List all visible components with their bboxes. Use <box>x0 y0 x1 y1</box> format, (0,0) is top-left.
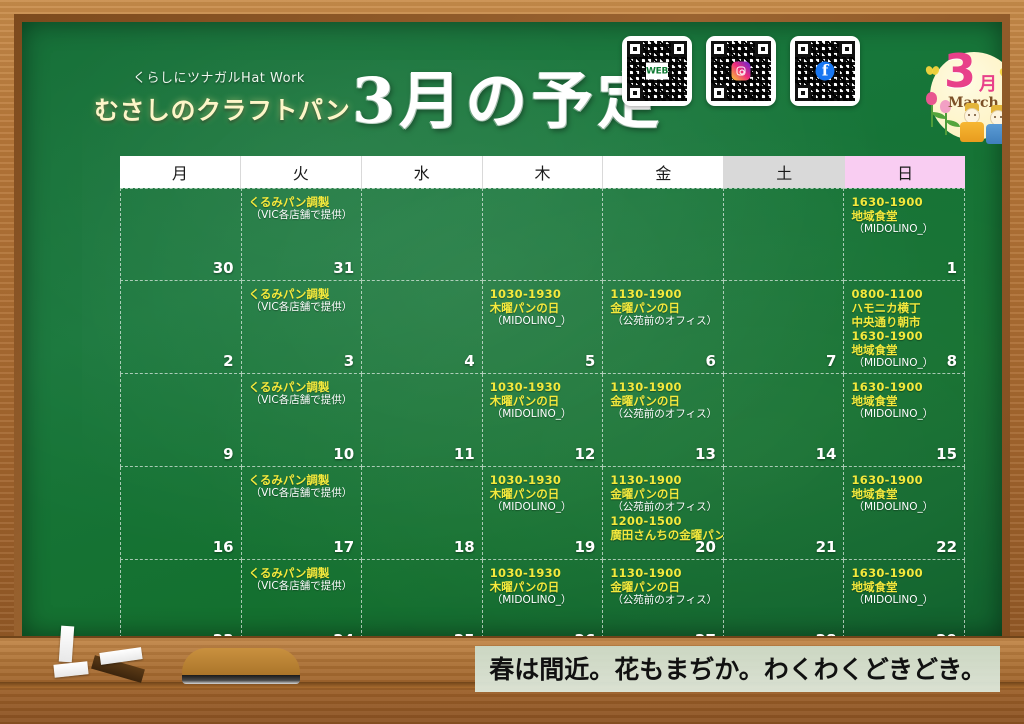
event-location-note: （公苑前のオフィス） <box>610 594 717 607</box>
day-number: 21 <box>816 538 837 556</box>
day-number: 10 <box>333 445 354 463</box>
day-number: 20 <box>695 538 716 556</box>
weekday-header-row: 月火水木金土日 <box>120 156 965 188</box>
event-title: 金曜パンの日 <box>610 580 717 594</box>
event-time: 1130-1900 <box>610 566 717 580</box>
event-title: くるみパン調製 <box>249 195 356 209</box>
day-number: 22 <box>936 538 957 556</box>
event-title: 金曜パンの日 <box>610 487 717 501</box>
calendar-day-cell[interactable] <box>724 188 845 281</box>
brand-block: くらしにツナガルHat Work むさしのクラフトパン <box>94 67 344 127</box>
calendar-day-cell[interactable]: 18 <box>362 467 483 560</box>
qr-finder-icon <box>627 85 643 101</box>
day-number: 13 <box>695 445 716 463</box>
weekday-header-weekday-0: 月 <box>120 156 241 188</box>
calendar-day-cell[interactable]: 1030-1930木曜パンの日（MIDOLINO_）12 <box>483 374 604 467</box>
calendar-day-cell[interactable]: 1130-1900金曜パンの日（公苑前のオフィス）13 <box>603 374 724 467</box>
qr-pattern: f <box>795 41 855 101</box>
calendar-week-row: 30くるみパン調製（VIC各店舗で提供）311630-1900地域食堂（MIDO… <box>120 188 965 281</box>
event-location-note: （公苑前のオフィス） <box>610 501 717 514</box>
event-location-note: （MIDOLINO_） <box>490 315 597 328</box>
calendar-event: 0800-1100ハモニカ横丁中央通り朝市 <box>851 287 958 329</box>
qr-finder-icon <box>671 41 687 57</box>
event-title: 地域食堂 <box>851 580 958 594</box>
calendar-day-cell[interactable]: 1130-1900金曜パンの日（公苑前のオフィス）1200-1500廣田さんちの… <box>603 467 724 560</box>
calendar-day-cell[interactable]: 25 <box>362 560 483 636</box>
event-location-note: （VIC各店舗で提供） <box>249 487 356 500</box>
event-location-note: （VIC各店舗で提供） <box>249 301 356 314</box>
event-title: 地域食堂 <box>851 209 958 223</box>
qr-finder-icon <box>839 41 855 57</box>
event-location-note: （MIDOLINO_） <box>851 408 958 421</box>
calendar-day-cell[interactable]: 28 <box>724 560 845 636</box>
facebook-qr-code[interactable]: f <box>790 36 860 106</box>
event-location-note: （MIDOLINO_） <box>490 501 597 514</box>
qr-pattern <box>711 41 771 101</box>
calendar-day-cell[interactable] <box>483 188 604 281</box>
weekday-header-weekday-3: 木 <box>483 156 604 188</box>
chalkboard-surface: くらしにツナガルHat Work むさしのクラフトパン 3月の予定 WEB <box>22 22 1002 636</box>
day-number: 4 <box>464 352 474 370</box>
calendar-week-row: 9くるみパン調製（VIC各店舗で提供）10111030-1930木曜パンの日（M… <box>120 374 965 467</box>
event-location-note: （MIDOLINO_） <box>490 594 597 607</box>
calendar-day-cell[interactable]: くるみパン調製（VIC各店舗で提供）31 <box>242 188 363 281</box>
event-time: 0800-1100 <box>851 287 958 301</box>
event-time: 1630-1900 <box>851 473 958 487</box>
calendar-day-cell[interactable]: 16 <box>120 467 242 560</box>
calendar-day-cell[interactable]: くるみパン調製（VIC各店舗で提供）10 <box>242 374 363 467</box>
brand-name: むさしのクラフトパン <box>94 91 344 127</box>
calendar-event: 1030-1930木曜パンの日（MIDOLINO_） <box>490 473 597 514</box>
calendar-event: くるみパン調製（VIC各店舗で提供） <box>249 566 356 593</box>
butterfly-icon <box>1000 68 1002 78</box>
event-location-note: （MIDOLINO_） <box>851 357 958 370</box>
event-title: 地域食堂 <box>851 394 958 408</box>
calendar-event: くるみパン調製（VIC各店舗で提供） <box>249 195 356 222</box>
day-number: 1 <box>947 259 957 277</box>
calendar-day-cell[interactable]: 1630-1900地域食堂（MIDOLINO_）15 <box>844 374 965 467</box>
butterfly-icon <box>926 66 940 76</box>
instagram-qr-code[interactable] <box>706 36 776 106</box>
calendar-week-row: 16くるみパン調製（VIC各店舗で提供）17181030-1930木曜パンの日（… <box>120 467 965 560</box>
badge-month-unit: 月 <box>979 70 997 96</box>
calendar-event: 1130-1900金曜パンの日（公苑前のオフィス） <box>610 380 717 421</box>
header: くらしにツナガルHat Work むさしのクラフトパン 3月の予定 WEB <box>22 22 1002 132</box>
calendar-day-cell[interactable]: くるみパン調製（VIC各店舗で提供）24 <box>242 560 363 636</box>
calendar-event: 1130-1900金曜パンの日（公苑前のオフィス） <box>610 473 717 514</box>
event-time: 1030-1930 <box>490 287 597 301</box>
calendar-day-cell[interactable]: 7 <box>724 281 845 374</box>
day-number: 31 <box>333 259 354 277</box>
day-number: 7 <box>826 352 836 370</box>
day-number: 30 <box>213 259 234 277</box>
calendar-day-cell[interactable]: 11 <box>362 374 483 467</box>
weekday-header-weekday-1: 火 <box>241 156 362 188</box>
calendar-event: くるみパン調製（VIC各店舗で提供） <box>249 380 356 407</box>
calendar-event: 1030-1930木曜パンの日（MIDOLINO_） <box>490 566 597 607</box>
weekday-header-saturday-5: 土 <box>724 156 845 188</box>
calendar-day-cell[interactable]: 1130-1900金曜パンの日（公苑前のオフィス）27 <box>603 560 724 636</box>
calendar-day-cell[interactable]: 21 <box>724 467 845 560</box>
calendar-day-cell[interactable] <box>603 188 724 281</box>
calendar-event: 1130-1900金曜パンの日（公苑前のオフィス） <box>610 566 717 607</box>
tagline: くらしにツナガルHat Work <box>94 67 344 86</box>
event-time: 1030-1930 <box>490 380 597 394</box>
event-title: 木曜パンの日 <box>490 487 597 501</box>
day-number: 19 <box>574 538 595 556</box>
calendar-event: 1130-1900金曜パンの日（公苑前のオフィス） <box>610 287 717 328</box>
qr-finder-icon <box>711 41 727 57</box>
event-time: 1630-1900 <box>851 329 958 343</box>
instagram-icon <box>732 62 751 81</box>
calendar-day-cell[interactable] <box>362 188 483 281</box>
calendar-day-cell[interactable]: 1030-1930木曜パンの日（MIDOLINO_）19 <box>483 467 604 560</box>
event-title: くるみパン調製 <box>249 380 356 394</box>
event-title-line2: 中央通り朝市 <box>851 315 958 329</box>
event-title: 木曜パンの日 <box>490 301 597 315</box>
event-title: くるみパン調製 <box>249 287 356 301</box>
calendar-day-cell[interactable]: 0800-1100ハモニカ横丁中央通り朝市1630-1900地域食堂（MIDOL… <box>844 281 965 374</box>
calendar-event: 1630-1900地域食堂（MIDOLINO_） <box>851 473 958 514</box>
day-number: 12 <box>574 445 595 463</box>
qr-finder-icon <box>711 85 727 101</box>
calendar-week-row: 23くるみパン調製（VIC各店舗で提供）24251030-1930木曜パンの日（… <box>120 560 965 636</box>
day-number: 18 <box>454 538 475 556</box>
calendar-event: くるみパン調製（VIC各店舗で提供） <box>249 287 356 314</box>
web-label: WEB <box>646 63 668 80</box>
calendar-event: くるみパン調製（VIC各店舗で提供） <box>249 473 356 500</box>
event-location-note: （公苑前のオフィス） <box>610 315 717 328</box>
event-location-note: （公苑前のオフィス） <box>610 408 717 421</box>
calendar-day-cell[interactable]: 9 <box>120 374 242 467</box>
event-time: 1630-1900 <box>851 380 958 394</box>
event-location-note: （VIC各店舗で提供） <box>249 209 356 222</box>
calendar-day-cell[interactable]: くるみパン調製（VIC各店舗で提供）3 <box>242 281 363 374</box>
event-location-note: （VIC各店舗で提供） <box>249 580 356 593</box>
weekday-header-sunday-6: 日 <box>845 156 965 188</box>
qr-finder-icon <box>627 41 643 57</box>
day-number: 11 <box>454 445 475 463</box>
weekday-header-weekday-4: 金 <box>603 156 724 188</box>
event-title: 地域食堂 <box>851 487 958 501</box>
badge-month-number: 3 <box>944 48 976 94</box>
calendar-event: 1030-1930木曜パンの日（MIDOLINO_） <box>490 380 597 421</box>
qr-pattern: WEB <box>627 41 687 101</box>
hina-doll-icon <box>960 108 984 142</box>
chalk-stick <box>59 626 74 663</box>
weekday-header-weekday-2: 水 <box>362 156 483 188</box>
event-title: くるみパン調製 <box>249 473 356 487</box>
march-illustration-badge: 3 月 March <box>922 40 1002 152</box>
calendar-day-cell[interactable]: くるみパン調製（VIC各店舗で提供）17 <box>242 467 363 560</box>
event-location-note: （MIDOLINO_） <box>851 223 958 236</box>
day-number: 17 <box>333 538 354 556</box>
event-time: 1200-1500 <box>610 514 717 528</box>
day-number: 8 <box>947 352 957 370</box>
calendar-event: 1030-1930木曜パンの日（MIDOLINO_） <box>490 287 597 328</box>
day-number: 2 <box>223 352 233 370</box>
footer-message: 春は間近。花もまぢか。わくわくどきどき。 <box>475 646 1000 692</box>
hina-doll-icon <box>986 110 1002 144</box>
calendar-event: 1630-1900地域食堂（MIDOLINO_） <box>851 380 958 421</box>
event-title: 木曜パンの日 <box>490 580 597 594</box>
qr-code-row: WEB f <box>622 36 860 106</box>
qr-finder-icon <box>795 41 811 57</box>
calendar-day-cell[interactable]: 2 <box>120 281 242 374</box>
web-qr-code[interactable]: WEB <box>622 36 692 106</box>
event-title: 木曜パンの日 <box>490 394 597 408</box>
day-number: 3 <box>344 352 354 370</box>
chalk-ledge: 春は間近。花もまぢか。わくわくどきどき。 <box>0 636 1024 724</box>
event-time: 1630-1900 <box>851 195 958 209</box>
day-number: 9 <box>223 445 233 463</box>
calendar-event: 1630-1900地域食堂（MIDOLINO_） <box>851 329 958 370</box>
event-title: 金曜パンの日 <box>610 394 717 408</box>
event-time: 1030-1930 <box>490 566 597 580</box>
calendar-event: 1630-1900地域食堂（MIDOLINO_） <box>851 195 958 236</box>
calendar-day-cell[interactable]: 1030-1930木曜パンの日（MIDOLINO_）5 <box>483 281 604 374</box>
calendar-weeks: 30くるみパン調製（VIC各店舗で提供）311630-1900地域食堂（MIDO… <box>120 188 965 636</box>
chalkboard-frame: くらしにツナガルHat Work むさしのクラフトパン 3月の予定 WEB <box>0 0 1024 724</box>
event-time: 1130-1900 <box>610 287 717 301</box>
calendar-day-cell[interactable]: 4 <box>362 281 483 374</box>
day-number: 16 <box>213 538 234 556</box>
tulip-icon <box>926 92 937 127</box>
qr-finder-icon <box>755 41 771 57</box>
chalk-stick <box>53 661 88 677</box>
event-title: ハモニカ横丁 <box>851 301 958 315</box>
day-number: 6 <box>705 352 715 370</box>
day-number: 15 <box>936 445 957 463</box>
event-location-note: （MIDOLINO_） <box>851 501 958 514</box>
event-location-note: （MIDOLINO_） <box>490 408 597 421</box>
qr-finder-icon <box>795 85 811 101</box>
calendar-day-cell[interactable]: 1630-1900地域食堂（MIDOLINO_）22 <box>844 467 965 560</box>
event-location-note: （VIC各店舗で提供） <box>249 394 356 407</box>
page-title: 3月の予定 <box>352 50 663 140</box>
calendar-day-cell[interactable]: 1630-1900地域食堂（MIDOLINO_）1 <box>844 188 965 281</box>
calendar-day-cell[interactable]: 30 <box>120 188 242 281</box>
event-time: 1030-1930 <box>490 473 597 487</box>
day-number: 5 <box>585 352 595 370</box>
event-title: 地域食堂 <box>851 343 958 357</box>
calendar-day-cell[interactable]: 23 <box>120 560 242 636</box>
day-number: 14 <box>816 445 837 463</box>
calendar-day-cell[interactable]: 1630-1900地域食堂（MIDOLINO_）29 <box>844 560 965 636</box>
eraser-felt <box>182 675 300 684</box>
calendar-day-cell[interactable]: 14 <box>724 374 845 467</box>
event-time: 1130-1900 <box>610 380 717 394</box>
blackboard-eraser <box>182 648 300 678</box>
calendar: 月火水木金土日 30くるみパン調製（VIC各店舗で提供）311630-1900地… <box>120 156 965 636</box>
event-title: くるみパン調製 <box>249 566 356 580</box>
facebook-icon: f <box>816 62 835 81</box>
calendar-day-cell[interactable]: 1030-1930木曜パンの日（MIDOLINO_）26 <box>483 560 604 636</box>
event-time: 1130-1900 <box>610 473 717 487</box>
calendar-day-cell[interactable]: 1130-1900金曜パンの日（公苑前のオフィス）6 <box>603 281 724 374</box>
calendar-week-row: 2くるみパン調製（VIC各店舗で提供）341030-1930木曜パンの日（MID… <box>120 281 965 374</box>
event-location-note: （MIDOLINO_） <box>851 594 958 607</box>
calendar-event: 1630-1900地域食堂（MIDOLINO_） <box>851 566 958 607</box>
event-title: 金曜パンの日 <box>610 301 717 315</box>
event-time: 1630-1900 <box>851 566 958 580</box>
